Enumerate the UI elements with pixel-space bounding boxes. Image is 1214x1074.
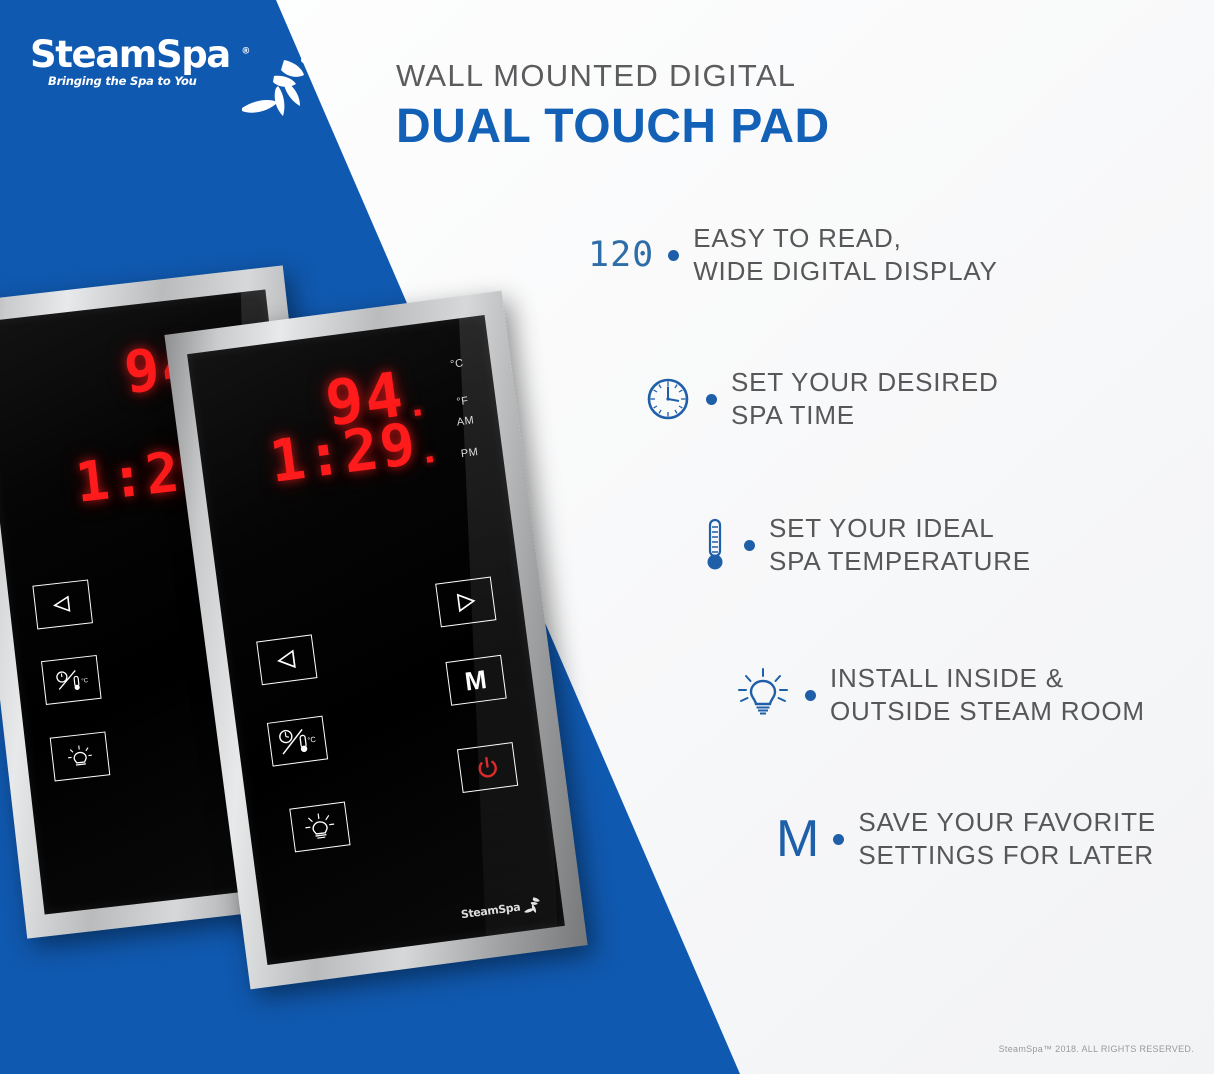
page-title: DUAL TOUCH PAD (396, 99, 830, 154)
pm-label: PM (460, 446, 479, 460)
page-subtitle: WALL MOUNTED DIGITAL (396, 58, 830, 94)
clock-icon (644, 375, 692, 423)
bullet-dot (706, 394, 717, 405)
feature-line-2: SPA TIME (731, 399, 999, 432)
button-grid: °C M (243, 586, 539, 901)
feature-line-1: EASY TO READ, (693, 222, 997, 255)
panel-glass: 94 °C °F 1:29 AM PM (187, 315, 565, 965)
feature-item-install: INSTALL INSIDE & OUTSIDE STEAM ROOM (735, 662, 1145, 729)
feature-line-2: SPA TEMPERATURE (769, 545, 1031, 578)
feature-line-1: SET YOUR DESIRED (731, 366, 999, 399)
brand-logo: SteamSpa ® Bringing the Spa to You (30, 36, 290, 126)
panel-brand-logo: SteamSpa (460, 895, 542, 923)
feature-line-2: SETTINGS FOR LATER (858, 839, 1156, 872)
feature-item-display: 120 EASY TO READ, WIDE DIGITAL DISPLAY (588, 222, 998, 289)
feature-text-time: SET YOUR DESIRED SPA TIME (731, 366, 999, 433)
feature-line-1: INSTALL INSIDE & (830, 662, 1145, 695)
feature-text-display: EASY TO READ, WIDE DIGITAL DISPLAY (693, 222, 997, 289)
memory-button[interactable]: M (445, 655, 506, 706)
infographic-canvas: SteamSpa ® Bringing the Spa to You WALL … (0, 0, 1214, 1074)
leaf-swoosh-icon (522, 895, 542, 915)
fahrenheit-active-dot (414, 409, 421, 416)
copyright-text: SteamSpa™ 2018. ALL RIGHTS RESERVED. (999, 1044, 1194, 1054)
power-button[interactable] (457, 742, 518, 793)
feature-line-1: SAVE YOUR FAVORITE (858, 806, 1156, 839)
feature-item-temperature: SET YOUR IDEAL SPA TEMPERATURE (700, 512, 1031, 579)
fahrenheit-label: °F (456, 395, 470, 408)
temp-time-toggle-button[interactable]: °C (41, 655, 102, 705)
feature-text-install: INSTALL INSIDE & OUTSIDE STEAM ROOM (830, 662, 1145, 729)
feature-text-memory: SAVE YOUR FAVORITE SETTINGS FOR LATER (858, 806, 1156, 873)
arrow-right-button[interactable] (435, 576, 496, 627)
light-button[interactable] (50, 732, 111, 782)
bullet-dot (805, 690, 816, 701)
pm-active-dot (426, 456, 433, 463)
svg-text:°C: °C (307, 734, 317, 744)
feature-line-2: WIDE DIGITAL DISPLAY (693, 255, 997, 288)
svg-text:°C: °C (82, 678, 90, 685)
digital-number-value: 120 (588, 235, 654, 275)
feature-text-temperature: SET YOUR IDEAL SPA TEMPERATURE (769, 512, 1031, 579)
led-display-front: 94 °C °F 1:29 AM PM (192, 352, 516, 593)
arrow-left-button[interactable] (257, 634, 318, 685)
memory-letter-icon: M (776, 813, 819, 865)
arrow-left-button[interactable] (33, 579, 94, 629)
feature-item-memory: M SAVE YOUR FAVORITE SETTINGS FOR LATER (776, 806, 1156, 873)
memory-button-label: M (463, 664, 489, 698)
feature-line-1: SET YOUR IDEAL (769, 512, 1031, 545)
digital-number-icon: 120 (588, 235, 654, 275)
temp-time-toggle-button[interactable]: °C (267, 715, 328, 766)
celsius-label: °C (450, 357, 465, 371)
leaf-swoosh-icon (238, 56, 310, 128)
page-title-block: WALL MOUNTED DIGITAL DUAL TOUCH PAD (396, 58, 830, 154)
feature-item-time: SET YOUR DESIRED SPA TIME (644, 366, 999, 433)
bullet-dot (833, 834, 844, 845)
thermometer-icon (700, 517, 730, 573)
am-label: AM (456, 414, 475, 428)
bullet-dot (668, 250, 679, 261)
lightbulb-icon (735, 667, 791, 723)
light-button[interactable] (289, 801, 350, 852)
bullet-dot (744, 540, 755, 551)
feature-line-2: OUTSIDE STEAM ROOM (830, 695, 1145, 728)
panel-brand-name: SteamSpa (460, 901, 521, 922)
memory-letter-value: M (776, 813, 819, 865)
led-time: 1:29 (266, 414, 420, 491)
